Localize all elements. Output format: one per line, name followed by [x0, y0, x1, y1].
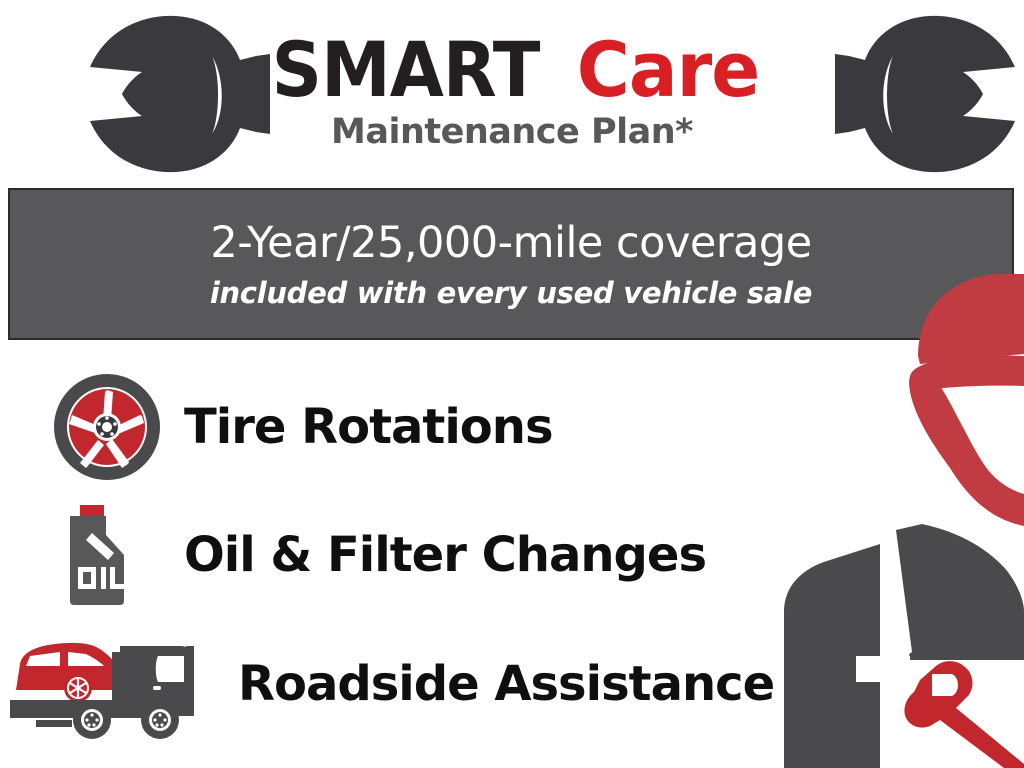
coverage-subtext: included with every used vehicle sale	[210, 276, 812, 310]
feature-item: Roadside Assistance	[8, 628, 774, 740]
feature-label: Roadside Assistance	[238, 656, 774, 712]
tire-wheel-icon	[52, 372, 162, 482]
feature-label: Tire Rotations	[184, 399, 553, 455]
tow-truck-icon	[8, 628, 214, 740]
brand-primary-text: SMART	[272, 34, 540, 106]
header-logo-area: SMART Care Maintenance Plan*	[0, 0, 1024, 186]
feature-label: Oil & Filter Changes	[184, 527, 706, 583]
coverage-headline: 2-Year/25,000-mile coverage	[210, 218, 811, 268]
feature-item: Oil & Filter Changes	[58, 505, 706, 605]
oil-jug-icon	[58, 505, 136, 605]
smart-care-poster: SMART Care Maintenance Plan* 2-Year/25,0…	[0, 0, 1024, 768]
wrench-icon	[80, 12, 310, 177]
wrench-icon	[795, 12, 1024, 177]
brand-secondary-text: Care	[576, 34, 758, 106]
brand-line: SMART Care	[260, 34, 763, 106]
mechanic-with-wrench-icon	[760, 268, 1024, 768]
brand-subtitle: Maintenance Plan*	[331, 112, 693, 152]
feature-item: Tire Rotations	[52, 372, 553, 482]
